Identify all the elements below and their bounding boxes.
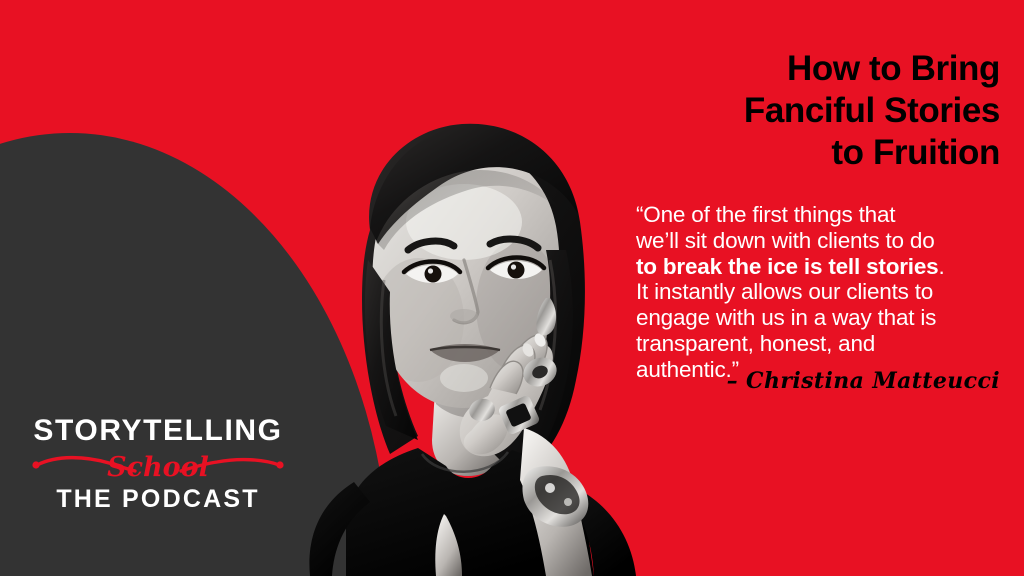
podcast-episode-graphic: How to Bring Fanciful Stories to Fruitio…: [0, 0, 1024, 576]
episode-title: How to Bring Fanciful Stories to Fruitio…: [570, 48, 1000, 174]
quote-line-3-suffix: .: [938, 254, 944, 279]
logo-school-script: School: [31, 447, 285, 483]
quote-line-3: to break the ice is tell stories.: [636, 254, 1016, 280]
svg-text:School: School: [107, 452, 209, 483]
quote-line-2: we’ll sit down with clients to do: [636, 228, 1016, 254]
podcast-logo: STORYTELLING School THE PODCAST: [33, 414, 283, 514]
logo-storytelling-text: STORYTELLING: [33, 414, 283, 448]
quote-line-3-bold: to break the ice is tell stories: [636, 254, 938, 279]
logo-the-podcast-text: THE PODCAST: [33, 484, 283, 514]
quote-line-4: It instantly allows our clients to: [636, 279, 1016, 305]
quote-attribution: – Christina Matteucci: [636, 368, 1000, 394]
guest-portrait-photo: [250, 110, 670, 576]
quote-line-1: “One of the first things that: [636, 202, 1016, 228]
pull-quote: “One of the first things that we’ll sit …: [636, 202, 1016, 383]
quote-line-6: transparent, honest, and: [636, 331, 1016, 357]
logo-script-row: School: [33, 447, 283, 483]
quote-line-5: engage with us in a way that is: [636, 305, 1016, 331]
